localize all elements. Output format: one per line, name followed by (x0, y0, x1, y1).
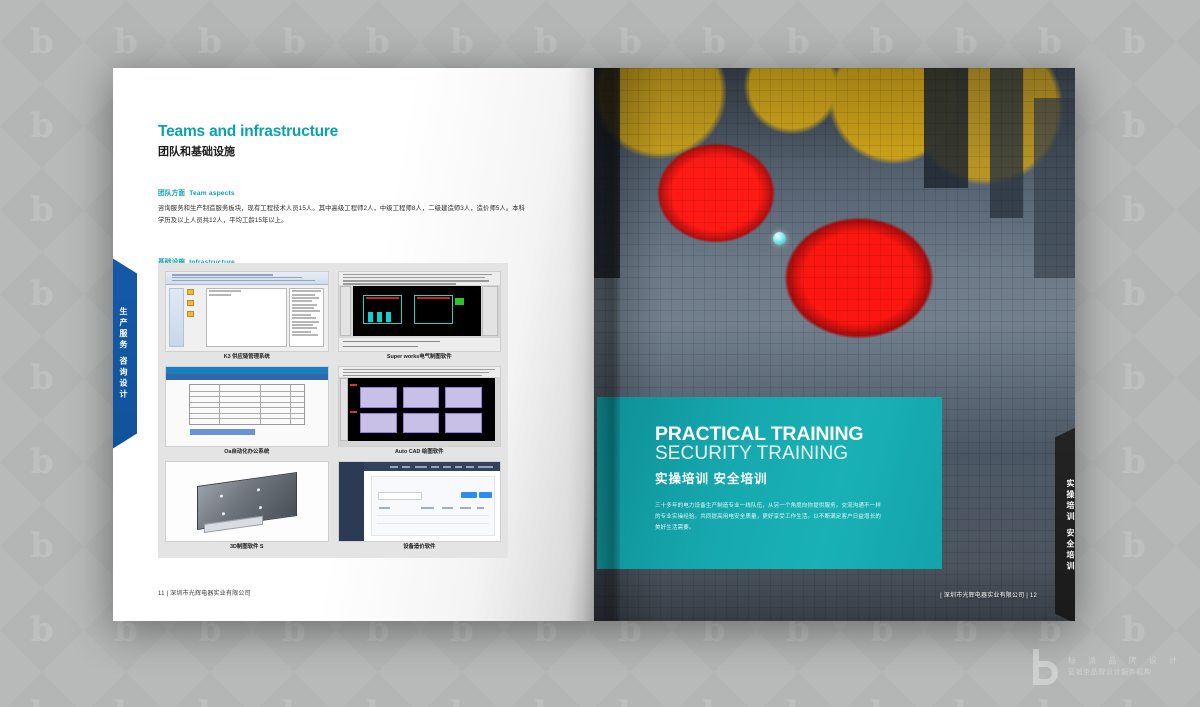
background-b-glyph: b (1092, 504, 1176, 588)
brochure-spread: Teams and infrastructure 团队和基础设施 团队方面 Te… (113, 68, 1075, 621)
background-b-glyph: b (0, 504, 84, 588)
designer-watermark: 标 派 品 牌 设 计 营销型品牌设计服务机构 (1030, 649, 1182, 685)
right-footer-company: 深圳市光辉电器实业有限公司 (944, 593, 1025, 599)
section-team-aspects-label-en: Team aspects (189, 190, 235, 197)
panel-title-en-light: SECURITY TRAINING (655, 444, 942, 465)
background-b-glyph: b (0, 588, 84, 672)
background-b-glyph: b (1092, 336, 1176, 420)
screenshot-stage: bbbbbbbbbbbbbbbbbbbbbbbbbbbbbbbbbbbbbbbb… (0, 0, 1200, 707)
background-b-glyph: b (756, 672, 840, 707)
oa-screenshot-image (165, 366, 329, 447)
thumbnail-item: 设备造价软件 (338, 461, 502, 550)
erp-screenshot-image (165, 271, 329, 352)
side-tab-left-label: 生产服务 咨询设计 (119, 307, 127, 400)
thumbnail-caption: Auto CAD 绘图软件 (395, 450, 444, 455)
side-tab-right-label: 实操培训 安全培训 (1066, 479, 1074, 572)
background-b-glyph: b (1092, 420, 1176, 504)
background-b-glyph: b (1092, 0, 1176, 84)
background-b-glyph: b (0, 672, 84, 707)
watermark-line-2: 营销型品牌设计服务机构 (1068, 668, 1182, 679)
left-footer-company: 深圳市光辉电器实业有限公司 (170, 591, 251, 597)
teal-accent-dot (773, 232, 786, 245)
side-tab-production-services[interactable]: 生产服务 咨询设计 (113, 256, 137, 451)
panel-title-cn: 实操培训 安全培训 (655, 468, 942, 487)
background-b-glyph: b (1176, 84, 1200, 168)
autocad-screenshot-image (338, 366, 502, 447)
b-logo-icon (1030, 649, 1060, 685)
thumbnail-item: 3D制图软件 S (165, 461, 329, 550)
thumbnail-item: Oa自动化办公系统 (165, 366, 329, 455)
thumbnail-caption: K3 供应链管理系统 (224, 355, 270, 360)
3d-model-screenshot-image (165, 461, 329, 542)
right-page: PRACTICAL TRAINING SECURITY TRAINING 实操培… (594, 68, 1075, 621)
thumbnail-caption: Oa自动化办公系统 (224, 450, 269, 455)
left-page: Teams and infrastructure 团队和基础设施 团队方面 Te… (113, 68, 594, 621)
background-b-glyph: b (588, 672, 672, 707)
background-b-glyph: b (1176, 420, 1200, 504)
background-b-glyph: b (420, 672, 504, 707)
background-b-glyph: b (1092, 252, 1176, 336)
cad-screenshot-image (338, 271, 502, 352)
background-b-glyph: b (1176, 252, 1200, 336)
section-team-aspects-label-cn: 团队方面 (158, 190, 185, 197)
background-b-glyph: b (1176, 336, 1200, 420)
background-b-glyph: b (1176, 0, 1200, 84)
section-team-aspects-label: 团队方面 Team aspects (158, 187, 564, 197)
right-page-number: 12 (1030, 593, 1037, 599)
background-b-glyph: b (672, 672, 756, 707)
page-title-cn: 团队和基础设施 (158, 143, 564, 159)
background-b-glyph: b (0, 168, 84, 252)
thumbnail-item: Auto CAD 绘图软件 (338, 366, 502, 455)
side-tab-practical-training[interactable]: 实操培训 安全培训 (1055, 423, 1075, 621)
background-b-glyph: b (1176, 168, 1200, 252)
background-b-glyph: b (0, 252, 84, 336)
background-b-glyph: b (1092, 168, 1176, 252)
background-b-glyph: b (924, 672, 1008, 707)
panel-body-text: 三十多年的电力设备生产制造专业一线队伍，从另一个角度向你提供服务。交流沟通不一样… (655, 501, 883, 534)
thumbnail-caption: 设备造价软件 (403, 545, 435, 550)
left-page-header: Teams and infrastructure 团队和基础设施 团队方面 Te… (158, 123, 564, 266)
thumbnail-item: Super works电气制图软件 (338, 271, 502, 360)
quoting-screenshot-image (338, 461, 502, 542)
background-b-glyph: b (0, 84, 84, 168)
background-b-glyph: b (84, 672, 168, 707)
background-b-glyph: b (336, 672, 420, 707)
background-b-glyph: b (252, 672, 336, 707)
background-b-glyph: b (840, 672, 924, 707)
right-page-footer: | 深圳市光辉电器实业有限公司 | 12 (940, 590, 1037, 599)
background-b-glyph: b (1092, 84, 1176, 168)
background-b-glyph: b (1176, 504, 1200, 588)
panel-title-en-bold: PRACTICAL TRAINING (655, 424, 942, 444)
page-title-en: Teams and infrastructure (158, 123, 564, 141)
background-b-glyph: b (0, 336, 84, 420)
watermark-line-1: 标 派 品 牌 设 计 (1068, 655, 1182, 667)
background-b-glyph: b (168, 672, 252, 707)
thumbnail-item: K3 供应链管理系统 (165, 271, 329, 360)
left-page-footer: 11 | 深圳市光辉电器实业有限公司 (158, 588, 251, 597)
background-b-glyph: b (0, 420, 84, 504)
practical-training-panel: PRACTICAL TRAINING SECURITY TRAINING 实操培… (597, 397, 942, 569)
section-team-aspects-body: 咨询服务和生产制造服务板块，现有工程技术人员15人。其中高级工程师2人，中级工程… (158, 203, 526, 226)
left-page-number: 11 (158, 591, 165, 597)
infrastructure-thumbnail-panel: K3 供应链管理系统 (158, 263, 508, 558)
background-b-glyph: b (0, 0, 84, 84)
background-b-glyph: b (504, 672, 588, 707)
thumbnail-caption: Super works电气制图软件 (387, 355, 452, 360)
thumbnail-caption: 3D制图软件 S (230, 545, 264, 550)
